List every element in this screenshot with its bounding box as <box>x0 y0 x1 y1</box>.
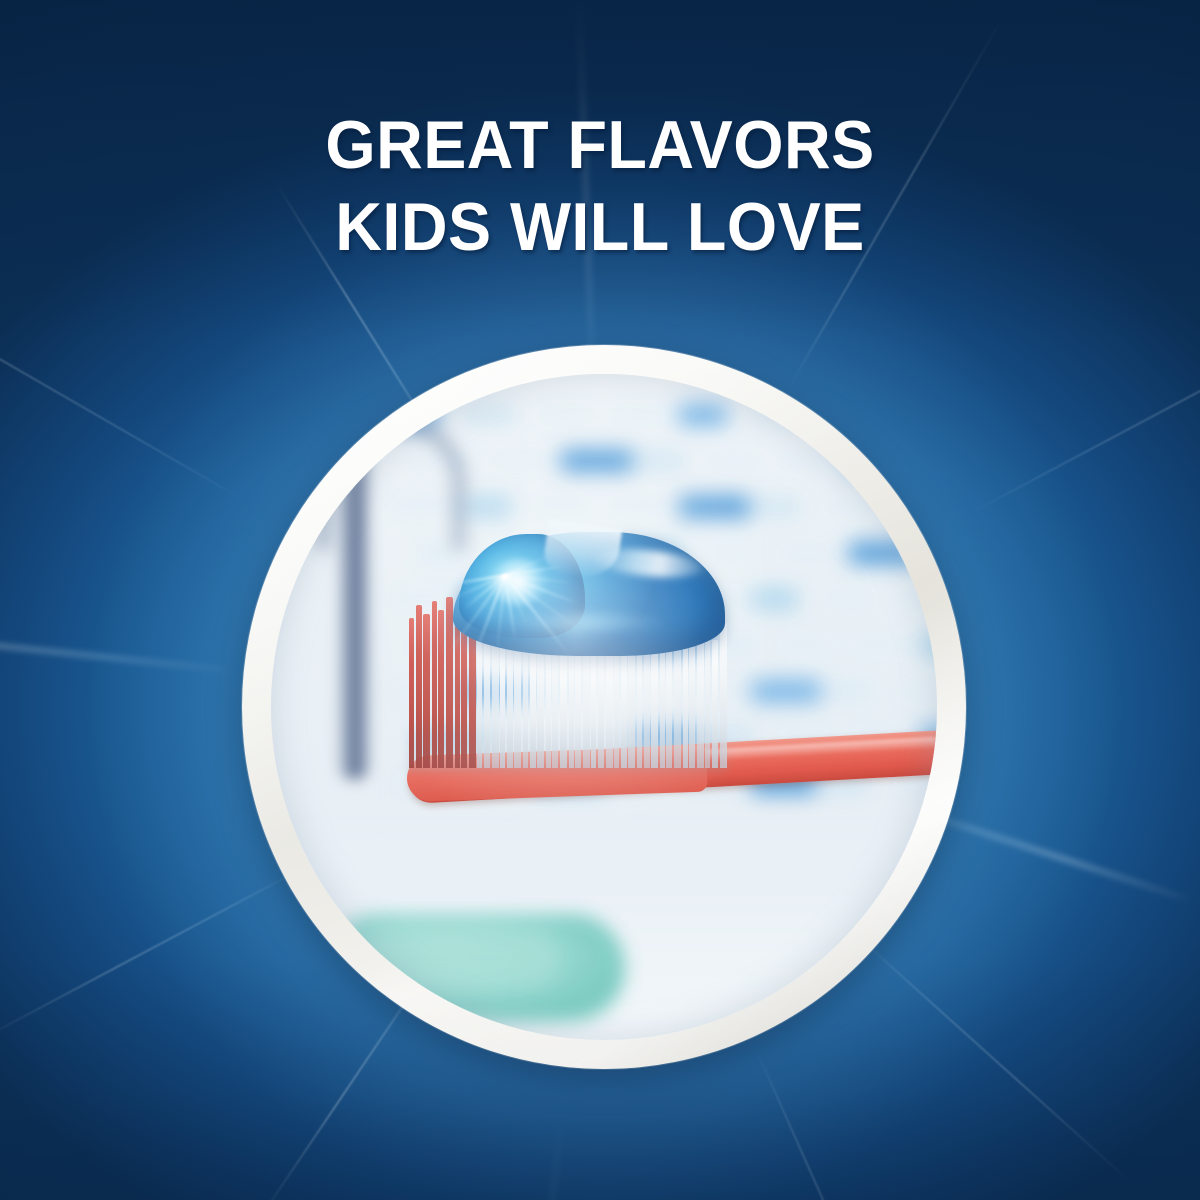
headline-line-1: GREAT FLAVORS <box>30 104 1170 186</box>
bristle-white <box>712 640 718 768</box>
bristle-white <box>683 640 688 768</box>
bristle-white <box>697 640 704 768</box>
bristle-white <box>606 640 613 768</box>
bristle-white <box>500 640 505 768</box>
bristle-white <box>560 640 567 768</box>
bristle-white <box>637 640 642 768</box>
bristle-red <box>438 610 444 768</box>
headline: GREAT FLAVORS KIDS WILL LOVE <box>30 104 1170 268</box>
bristle-white <box>621 640 627 768</box>
bristle-red <box>423 614 430 768</box>
toothpaste-blob <box>453 532 725 656</box>
bristle-red <box>409 618 414 768</box>
mosaic-tile <box>921 542 937 564</box>
mosaic-tile <box>921 634 937 656</box>
product-photo <box>271 374 937 1040</box>
bristle-white <box>514 640 521 768</box>
headline-line-2: KIDS WILL LOVE <box>30 186 1170 268</box>
circular-medallion <box>242 345 966 1069</box>
bristle-white <box>546 640 551 768</box>
toothpaste-gloss-lower <box>499 614 669 630</box>
bristle-white <box>484 640 490 768</box>
bristle-red <box>416 605 422 768</box>
bristle-white <box>666 640 672 768</box>
bristle-red <box>446 597 453 768</box>
bristle-white <box>651 640 658 768</box>
mosaic-tile <box>921 450 937 472</box>
bristle-white <box>575 640 581 768</box>
banner-stage: GREAT FLAVORS KIDS WILL LOVE <box>0 0 1200 1200</box>
bristle-red <box>432 601 437 768</box>
bristle-white <box>591 640 596 768</box>
toothbrush <box>271 374 907 1010</box>
bristle-white <box>530 640 536 768</box>
photo-scene <box>271 374 937 1040</box>
